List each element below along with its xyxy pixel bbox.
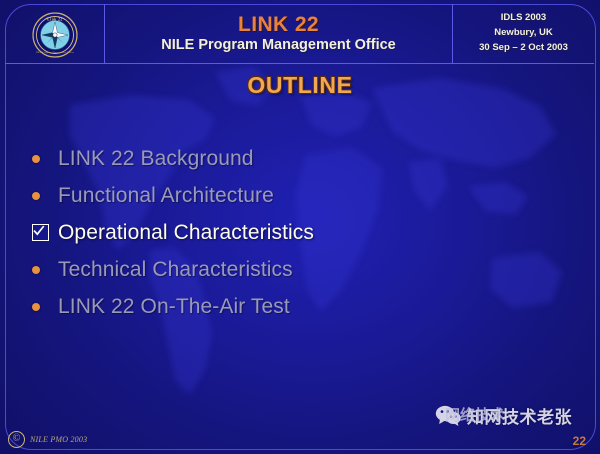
- checked-box-icon: [32, 224, 58, 241]
- watermark-text-overlay: 网络技术: [445, 404, 505, 425]
- header-rule: [5, 63, 594, 64]
- event-name: IDLS 2003: [501, 11, 546, 26]
- page-number: 22: [573, 434, 586, 448]
- watermark: 知网技术老张 网络技术: [435, 403, 572, 428]
- list-item-active[interactable]: Operational Characteristics: [32, 214, 452, 251]
- list-item[interactable]: LINK 22 Background: [32, 140, 452, 177]
- svg-text:Link 22: Link 22: [47, 17, 62, 21]
- watermark-text: 知网技术老张: [467, 403, 572, 428]
- copyright: © NILE PMO 2003: [8, 431, 87, 448]
- slide-header: Link 22 NILE Program Management Office L…: [5, 4, 594, 64]
- list-item[interactable]: Technical Characteristics: [32, 251, 452, 288]
- copyright-icon: ©: [8, 431, 25, 448]
- logo-cell: Link 22 NILE Program Management Office: [5, 4, 104, 63]
- list-item-label: Technical Characteristics: [58, 258, 293, 282]
- link22-compass-badge-icon: Link 22 NILE Program Management Office: [32, 12, 78, 58]
- header-title-cell: LINK 22 NILE Program Management Office: [105, 4, 452, 63]
- bullet-dot-icon: [32, 155, 58, 163]
- list-item[interactable]: LINK 22 On-The-Air Test: [32, 288, 452, 325]
- outline-list: LINK 22 Background Functional Architectu…: [32, 140, 452, 325]
- page-title: LINK 22: [238, 14, 319, 36]
- svg-text:NILE Program Management Office: NILE Program Management Office: [36, 51, 75, 54]
- presentation-slide: Link 22 NILE Program Management Office L…: [0, 0, 600, 454]
- event-dates: 30 Sep – 2 Oct 2003: [479, 41, 568, 56]
- slide-title: OUTLINE: [0, 72, 600, 99]
- copyright-text: NILE PMO 2003: [30, 435, 87, 444]
- list-item[interactable]: Functional Architecture: [32, 177, 452, 214]
- bullet-dot-icon: [32, 266, 58, 274]
- list-item-label: Functional Architecture: [58, 184, 274, 208]
- bullet-dot-icon: [32, 192, 58, 200]
- bullet-dot-icon: [32, 303, 58, 311]
- event-info: IDLS 2003 Newbury, UK 30 Sep – 2 Oct 200…: [453, 4, 594, 63]
- list-item-label: LINK 22 Background: [58, 147, 254, 171]
- page-subtitle: NILE Program Management Office: [161, 38, 395, 53]
- list-item-label: LINK 22 On-The-Air Test: [58, 295, 290, 319]
- list-item-label: Operational Characteristics: [58, 221, 314, 245]
- event-location: Newbury, UK: [494, 26, 552, 41]
- wechat-icon: [435, 405, 461, 426]
